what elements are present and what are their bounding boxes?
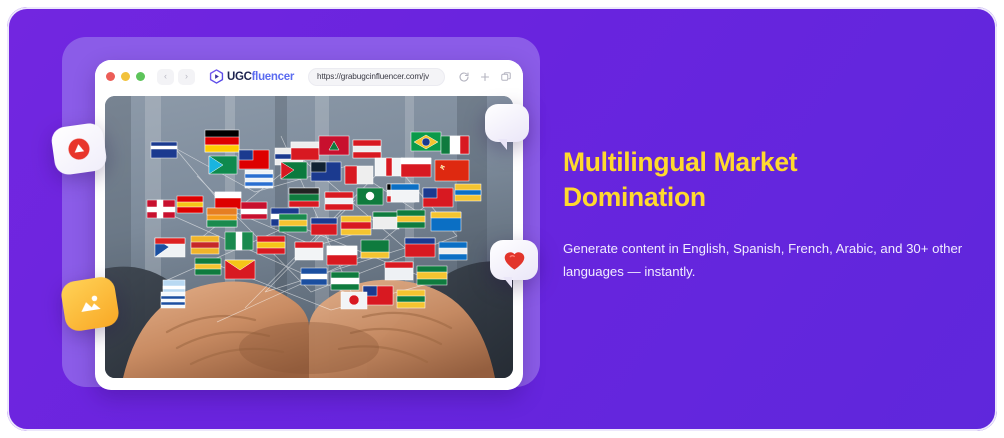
- navigation-buttons: ‹ ›: [157, 69, 195, 85]
- toolbar-icons: [458, 71, 512, 83]
- logo-wordmark: UGCfluencer: [227, 71, 294, 83]
- traffic-lights: [106, 72, 145, 81]
- heart-icon: [503, 250, 526, 271]
- video-badge[interactable]: [50, 122, 108, 177]
- site-logo[interactable]: UGCfluencer: [209, 69, 294, 84]
- play-logo-icon: [209, 69, 224, 84]
- new-tab-icon[interactable]: [479, 71, 491, 83]
- browser-toolbar: ‹ › UGCfluence: [95, 60, 523, 93]
- reload-icon[interactable]: [458, 71, 470, 83]
- logo-text-secondary: fluencer: [252, 71, 294, 83]
- play-icon: [63, 133, 95, 165]
- back-icon[interactable]: ‹: [157, 69, 174, 85]
- hero-image: [105, 96, 513, 378]
- device-card: ‹ › UGCfluence: [62, 37, 540, 387]
- page-root: ‹ › UGCfluence: [0, 0, 1004, 438]
- comment-badge[interactable]: [485, 104, 529, 142]
- address-bar-url: https://grabugcinfluencer.com/jv: [317, 72, 429, 81]
- copy-block: Multilingual Market Domination Generate …: [563, 145, 983, 284]
- page-title: Multilingual Market Domination: [563, 145, 863, 215]
- photo-icon: [75, 289, 105, 319]
- minimize-window-dot[interactable]: [121, 72, 130, 81]
- subtitle-text: Generate content in English, Spanish, Fr…: [563, 238, 983, 283]
- forward-icon[interactable]: ›: [178, 69, 195, 85]
- flags-in-hands-photo: [105, 96, 513, 378]
- browser-mockup: ‹ › UGCfluence: [95, 60, 523, 390]
- tabs-icon[interactable]: [500, 71, 512, 83]
- address-bar[interactable]: https://grabugcinfluencer.com/jv: [308, 68, 445, 86]
- close-window-dot[interactable]: [106, 72, 115, 81]
- logo-text-primary: UGC: [227, 71, 252, 83]
- feature-panel: ‹ › UGCfluence: [7, 7, 997, 431]
- maximize-window-dot[interactable]: [136, 72, 145, 81]
- image-badge[interactable]: [59, 275, 120, 333]
- like-badge[interactable]: [490, 240, 538, 280]
